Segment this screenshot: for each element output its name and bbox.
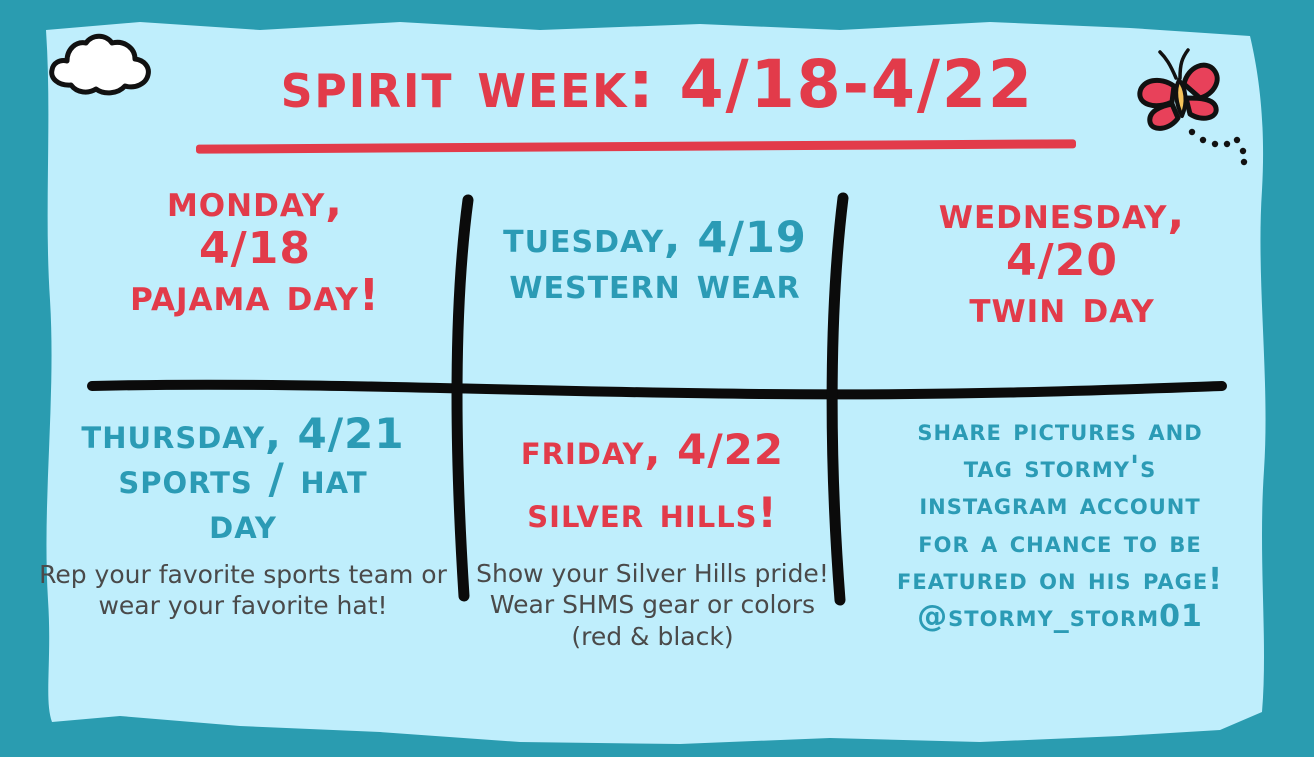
tuesday-line-1: Tuesday, 4/19: [470, 215, 840, 261]
thursday-line-2: Sports / Hat: [28, 457, 458, 502]
day-cell-wednesday: Wednesday, 4/20 Twin day: [862, 190, 1262, 331]
day-cell-friday: Friday, 4/22 Silver Hills! Show your Sil…: [470, 418, 835, 652]
title-underline: [196, 139, 1076, 153]
thursday-line-1: Thursday, 4/21: [28, 412, 458, 457]
cloud-icon: [38, 28, 156, 108]
tuesday-line-2: Western wear: [470, 261, 840, 307]
page-title-wrap: Spirit Week: 4/18-4/22: [0, 52, 1314, 118]
day-cell-monday: Monday, 4/18 Pajama day!: [60, 178, 450, 319]
wednesday-line-3: Twin day: [862, 284, 1262, 331]
spirit-week-poster: Spirit Week: 4/18-4/22 Monday, 4/18 Paja…: [0, 0, 1314, 757]
day-cell-tuesday: Tuesday, 4/19 Western wear: [470, 215, 840, 307]
thursday-subtext: Rep your favorite sports team or wear yo…: [28, 559, 458, 622]
page-title: Spirit Week: 4/18-4/22: [280, 52, 1033, 118]
note-line-2: tag Stormy's: [860, 449, 1260, 486]
friday-line-2: Silver Hills!: [470, 481, 835, 544]
monday-line-2: 4/18: [60, 225, 450, 272]
monday-line-3: Pajama day!: [60, 272, 450, 319]
instagram-handle: @Stormy_storm01: [860, 598, 1260, 635]
note-line-1: Share pictures and: [860, 412, 1260, 449]
monday-line-1: Monday,: [60, 178, 450, 225]
note-line-5: featured on his page!: [860, 561, 1260, 598]
wednesday-line-1: Wednesday,: [862, 190, 1262, 237]
day-cell-thursday: Thursday, 4/21 Sports / Hat day Rep your…: [28, 412, 458, 621]
thursday-line-3: day: [28, 502, 458, 547]
friday-line-1: Friday, 4/22: [470, 418, 835, 481]
butterfly-icon: [1130, 40, 1280, 170]
note-line-3: instagram account: [860, 486, 1260, 523]
note-line-4: for a chance to be: [860, 524, 1260, 561]
friday-subtext: Show your Silver Hills pride! Wear SHMS …: [470, 558, 835, 652]
wednesday-line-2: 4/20: [862, 237, 1262, 284]
instagram-note-cell: Share pictures and tag Stormy's instagra…: [860, 412, 1260, 635]
